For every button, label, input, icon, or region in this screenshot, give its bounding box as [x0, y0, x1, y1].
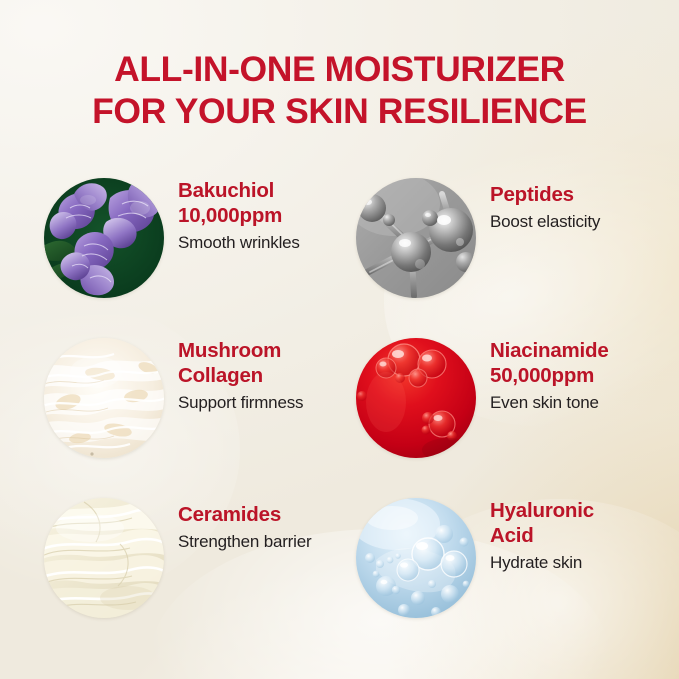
- ingredient-labels: Niacinamide 50,000ppm Even skin tone: [490, 338, 679, 414]
- ingredient-item-hyaluronic-acid: Hyaluronic Acid Hydrate skin: [356, 498, 676, 638]
- ingredient-labels: Hyaluronic Acid Hydrate skin: [490, 498, 679, 574]
- ingredient-name-line-1: Niacinamide: [490, 339, 609, 362]
- red-droplet-image: [356, 338, 476, 458]
- ingredient-description: Smooth wrinkles: [178, 231, 368, 254]
- product-infographic-poster: ALL-IN-ONE MOISTURIZER FOR YOUR SKIN RES…: [0, 0, 679, 679]
- ingredient-name: Peptides: [490, 182, 679, 207]
- page-title: ALL-IN-ONE MOISTURIZER FOR YOUR SKIN RES…: [0, 48, 679, 132]
- ingredient-item-peptides: Peptides Boost elasticity: [356, 178, 676, 318]
- ingredient-name-line-1: Hyaluronic: [490, 499, 594, 522]
- ingredient-row: Ceramides Strengthen barrier: [0, 498, 679, 658]
- iris-flower-image: [44, 178, 164, 298]
- ingredient-name: Mushroom Collagen: [178, 338, 368, 388]
- ingredient-item-bakuchiol: Bakuchiol 10,000ppm Smooth wrinkles: [44, 178, 364, 318]
- ingredient-item-ceramides: Ceramides Strengthen barrier: [44, 498, 364, 638]
- ingredient-name-line-1: Bakuchiol: [178, 179, 274, 202]
- ingredient-labels: Ceramides Strengthen barrier: [178, 502, 368, 553]
- ingredient-item-niacinamide: Niacinamide 50,000ppm Even skin tone: [356, 338, 676, 478]
- ingredient-description: Support firmness: [178, 391, 368, 414]
- ingredient-item-mushroom-collagen: Mushroom Collagen Support firmness: [44, 338, 364, 478]
- ingredient-name-line-2: 10,000ppm: [178, 204, 282, 227]
- ingredient-description: Strengthen barrier: [178, 530, 368, 553]
- mushroom-texture-image: [44, 338, 164, 458]
- ingredient-labels: Bakuchiol 10,000ppm Smooth wrinkles: [178, 178, 368, 254]
- ingredient-name-line-1: Mushroom: [178, 339, 281, 362]
- ingredient-name: Hyaluronic Acid: [490, 498, 679, 548]
- ingredient-description: Even skin tone: [490, 391, 679, 414]
- ingredient-name: Bakuchiol 10,000ppm: [178, 178, 368, 228]
- cream-texture-image: [44, 498, 164, 618]
- ingredient-name: Ceramides: [178, 502, 368, 527]
- ingredient-labels: Mushroom Collagen Support firmness: [178, 338, 368, 414]
- ingredient-name-line-2: Acid: [490, 524, 534, 547]
- ingredient-labels: Peptides Boost elasticity: [490, 182, 679, 233]
- molecule-image: [356, 178, 476, 298]
- ingredient-name: Niacinamide 50,000ppm: [490, 338, 679, 388]
- ingredient-row: Mushroom Collagen Support firmness: [0, 338, 679, 498]
- ingredient-description: Boost elasticity: [490, 210, 679, 233]
- ingredient-grid: Bakuchiol 10,000ppm Smooth wrinkles: [0, 178, 679, 658]
- ingredient-name-line-2: 50,000ppm: [490, 364, 594, 387]
- ingredient-row: Bakuchiol 10,000ppm Smooth wrinkles: [0, 178, 679, 338]
- page-title-line-2: FOR YOUR SKIN RESILIENCE: [0, 90, 679, 132]
- ingredient-description: Hydrate skin: [490, 551, 679, 574]
- page-title-line-1: ALL-IN-ONE MOISTURIZER: [0, 48, 679, 90]
- blue-gel-image: [356, 498, 476, 618]
- ingredient-name-line-2: Collagen: [178, 364, 263, 387]
